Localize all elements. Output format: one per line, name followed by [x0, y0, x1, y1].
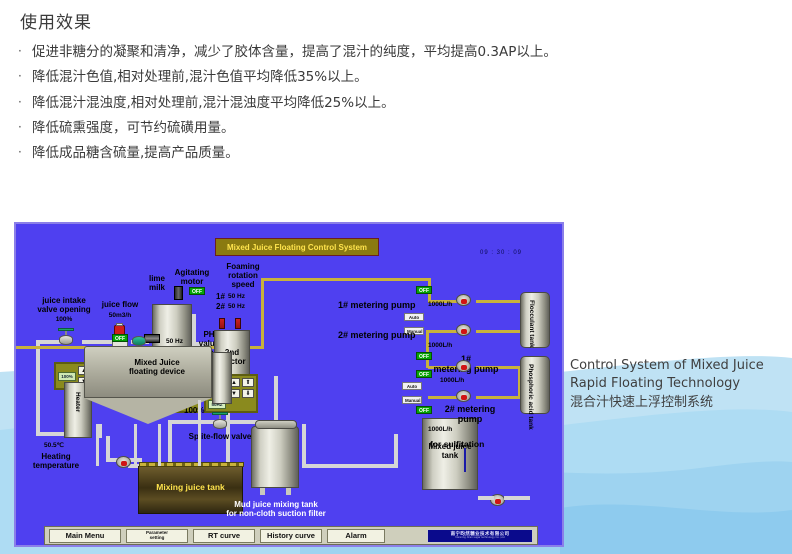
- hmi-screenshot: Mixed Juice Floating Control System 09 :…: [14, 222, 564, 547]
- metering-pump-1-bot-icon[interactable]: [456, 360, 471, 372]
- mud-juice-mixing-tank-label: Mud juice mixing tank for non-cloth suct…: [216, 500, 336, 518]
- pipe: [504, 496, 530, 500]
- pump-rotor-icon: [461, 299, 467, 304]
- bullet-list: · 促进非糖分的凝聚和清净，减少了胶体含量，提高了混汁的纯度，平均提高0.3AP…: [18, 42, 578, 168]
- metering-pump-1-top-state-tag[interactable]: OFF: [416, 286, 432, 294]
- pipe: [274, 376, 278, 422]
- caption-line-1: Control System of Mixed Juice: [570, 357, 785, 375]
- metering-pump-2-top-flow: 1000L/h: [428, 342, 452, 349]
- phosphoric-acid-tank: [520, 356, 550, 414]
- history-curve-button[interactable]: History curve: [260, 529, 322, 543]
- metering-pump-2-top-label: 2# metering pump: [338, 330, 416, 340]
- figure-caption: Control System of Mixed Juice Rapid Floa…: [570, 357, 785, 412]
- metering-pump-1-bot-flow: 1000L/h: [440, 377, 464, 384]
- foaming-2-hz: 50 Hz: [228, 303, 245, 310]
- metering-pump-2-bot-state-tag[interactable]: OFF: [416, 406, 432, 414]
- agitating-motor-icon: [174, 286, 183, 300]
- metering-pump-1-top-icon[interactable]: [456, 294, 471, 306]
- pump2-key-down-fast[interactable]: ⬇: [242, 389, 254, 398]
- intake-readout: 100%: [58, 372, 76, 381]
- bullet-marker: ·: [18, 42, 32, 61]
- list-item-label: 降低混汁色值,相对处理前,混汁色值平均降低35%以上。: [32, 67, 578, 87]
- dosing-pipe: [261, 278, 431, 281]
- hmi-button-bar: Main Menu Parameter setting RT curve His…: [44, 526, 538, 545]
- dosing-pipe: [476, 330, 522, 333]
- sludge-column-vessel: [212, 352, 232, 404]
- tank-top-icon: [139, 462, 244, 467]
- floating-device-leg: [198, 400, 201, 466]
- foaming-1-hz: 50 Hz: [228, 293, 245, 300]
- alarm-button[interactable]: Alarm: [327, 529, 385, 543]
- main-menu-button[interactable]: Main Menu: [49, 529, 121, 543]
- bullet-marker: ·: [18, 93, 32, 112]
- metering-pump-2-bot-flow: 1000L/h: [428, 426, 452, 433]
- sensor-cap-icon: [116, 323, 123, 326]
- floating-device-hz: 50 Hz: [166, 338, 183, 345]
- manual-button-bottom[interactable]: Manual: [402, 396, 422, 404]
- splite-flow-valve-icon[interactable]: [213, 419, 227, 429]
- floating-device-leg: [134, 424, 137, 466]
- pipe: [36, 340, 40, 436]
- floating-device-leg: [158, 424, 161, 466]
- floating-device-motor-icon: [144, 334, 160, 343]
- parameter-setting-button[interactable]: Parameter setting: [126, 529, 188, 543]
- auto-button-bottom[interactable]: Auto: [402, 382, 422, 390]
- list-item: · 降低混汁混浊度,相对处理前,混汁混浊度平均降低25%以上。: [18, 93, 578, 113]
- clock-display: 09 : 30 : 09: [480, 250, 522, 256]
- mud-tank-leg: [286, 488, 291, 495]
- dosing-pipe: [476, 300, 522, 303]
- bullet-marker: ·: [18, 143, 32, 162]
- transfer-pump-icon[interactable]: [116, 456, 131, 468]
- phosphoric-acid-tank-label: Phosphoric acid tank: [527, 364, 534, 430]
- mixing-juice-tank-label: Mixing juice tank: [138, 482, 243, 492]
- company-logo: 南宁昀然糖业技术有限公司 Nanning Jiran sugar technol…: [427, 529, 533, 543]
- pump-rotor-icon: [121, 461, 127, 466]
- juice-intake-valve-icon[interactable]: [59, 335, 73, 345]
- flocculant-tank-label: Flocculant tank: [528, 300, 535, 348]
- mud-tank-leg: [260, 488, 265, 495]
- bullet-marker: ·: [18, 118, 32, 137]
- hmi-banner-title: Mixed Juice Floating Control System: [215, 238, 379, 256]
- floating-device-leg: [96, 424, 99, 466]
- juice-flow-value: 50m3/h: [92, 312, 148, 319]
- pump-rotor-icon: [495, 499, 501, 504]
- pump2-key-up-fast[interactable]: ⬆: [242, 378, 254, 387]
- list-item-label: 降低硫熏强度，可节约硫磺用量。: [32, 118, 578, 138]
- dosing-pipe: [476, 396, 520, 399]
- splite-valve-label: Splite-flow valve: [178, 432, 262, 441]
- dosing-pipe: [426, 330, 458, 333]
- agitating-motor-state-tag[interactable]: OFF: [189, 287, 205, 295]
- foaming-speed-label: Foaming rotation speed: [214, 262, 272, 290]
- list-item: · 降低硫熏强度，可节约硫磺用量。: [18, 118, 578, 138]
- mud-juice-mixing-tank: [251, 426, 299, 488]
- company-logo-en: Nanning Jiran sugar technology Co.,Ltd: [455, 536, 504, 539]
- juice-flow-label: juice flow: [92, 300, 148, 309]
- floating-device-caption: Mixed Juice floating device: [102, 358, 212, 376]
- foaming-2-label: 2#: [216, 302, 225, 311]
- floating-device-state-tag[interactable]: OFF: [112, 334, 128, 342]
- list-item-label: 降低混汁混浊度,相对处理前,混汁混浊度平均降低25%以上。: [32, 93, 578, 113]
- dosing-pipe: [428, 396, 458, 399]
- metering-pump-extra-state-tag[interactable]: OFF: [416, 370, 432, 378]
- list-item-label: 促进非糖分的凝聚和清净，减少了胶体含量，提高了混汁的纯度，平均提高0.3AP以上…: [32, 42, 578, 62]
- pipe: [302, 464, 394, 468]
- list-item: · 促进非糖分的凝聚和清净，减少了胶体含量，提高了混汁的纯度，平均提高0.3AP…: [18, 42, 578, 62]
- caption-line-2: Rapid Floating Technology: [570, 375, 785, 393]
- metering-pump-1-top-flow: 1000L/h: [428, 301, 452, 308]
- list-item: · 降低混汁色值,相对处理前,混汁色值平均降低35%以上。: [18, 67, 578, 87]
- indicator-lamp-icon: [235, 318, 241, 329]
- pump-rotor-icon: [461, 395, 467, 400]
- metering-pump-1-top-label: 1# metering pump: [338, 300, 416, 310]
- page-title: 使用效果: [20, 8, 92, 33]
- heating-temperature-label: Heating temperature: [18, 452, 94, 470]
- pump-rotor-icon: [461, 329, 467, 334]
- metering-pump-2-top-icon[interactable]: [456, 324, 471, 336]
- metering-pump-2-bot-label: 2# metering pump: [434, 404, 506, 425]
- list-item-label: 降低成品糖含硫量,提高产品质量。: [32, 143, 578, 163]
- heater-label: Heater: [74, 392, 81, 412]
- agitating-motor-label: Agitating motor: [166, 268, 218, 286]
- list-item: · 降低成品糖含硫量,提高产品质量。: [18, 143, 578, 163]
- heating-temperature-value: 50.5℃: [22, 442, 86, 449]
- auto-button-top[interactable]: Auto: [404, 313, 424, 321]
- sulfitation-arrow: [464, 448, 466, 472]
- caption-line-3: 混合汁快速上浮控制系统: [570, 394, 785, 412]
- floating-device-valve-icon[interactable]: [132, 336, 146, 346]
- rt-curve-button[interactable]: RT curve: [193, 529, 255, 543]
- pipe: [394, 434, 398, 468]
- pump-rotor-icon: [461, 365, 467, 370]
- metering-pump-2-bot-icon[interactable]: [456, 390, 471, 402]
- indicator-lamp-icon: [219, 318, 225, 329]
- mud-tank-lid: [255, 420, 297, 429]
- foaming-1-label: 1#: [216, 292, 225, 301]
- for-sulfitation-label: for sulfitation: [430, 440, 484, 450]
- pipe: [478, 496, 494, 500]
- bullet-marker: ·: [18, 67, 32, 86]
- floating-device-cone: [84, 398, 212, 424]
- pipe: [302, 424, 306, 468]
- pipe: [106, 436, 110, 460]
